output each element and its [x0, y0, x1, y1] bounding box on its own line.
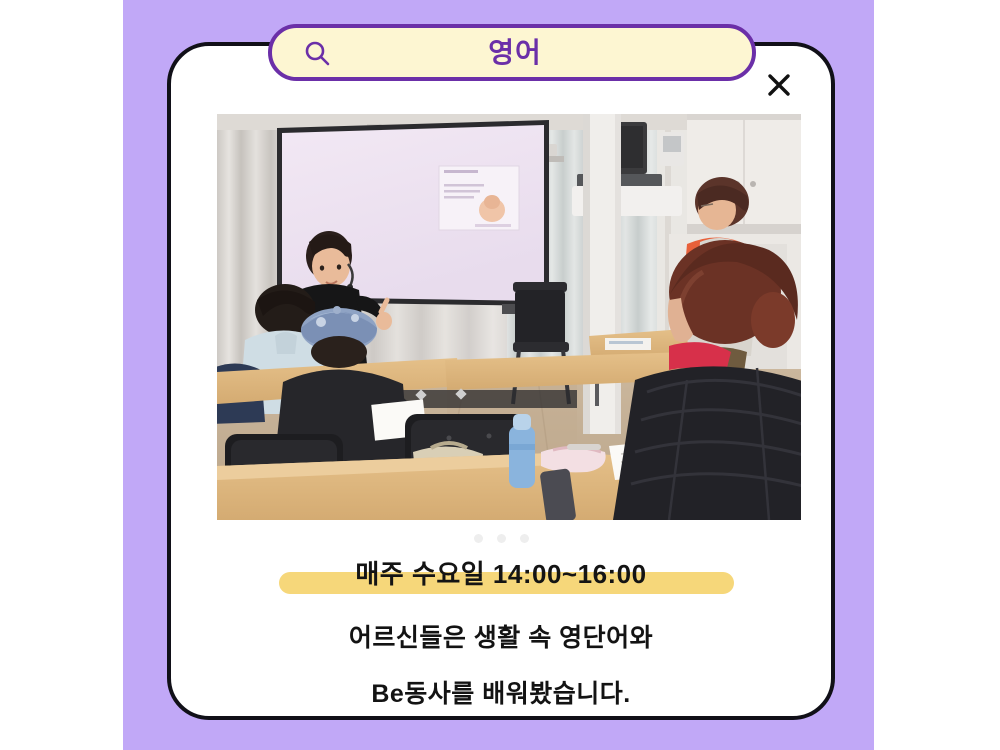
description-line-2: Be동사를 배워봤습니다.	[171, 674, 831, 710]
carousel-dots[interactable]	[171, 534, 831, 543]
screenshot-root: 매주 수요일 14:00~16:00 어르신들은 생활 속 영단어와 Be동사를…	[0, 0, 1000, 750]
description-line-1: 어르신들은 생활 속 영단어와	[171, 618, 831, 654]
schedule-text: 매주 수요일 14:00~16:00	[171, 554, 831, 594]
schedule-row: 매주 수요일 14:00~16:00	[171, 554, 831, 598]
page-title: 영어	[272, 39, 752, 67]
content-card: 매주 수요일 14:00~16:00 어르신들은 생활 속 영단어와 Be동사를…	[167, 42, 835, 720]
close-button[interactable]	[762, 68, 796, 102]
class-photo[interactable]	[217, 114, 801, 520]
carousel-dot-2[interactable]	[497, 534, 506, 543]
carousel-dot-3[interactable]	[520, 534, 529, 543]
search-title-bar[interactable]: 영어	[268, 24, 756, 81]
carousel-dot-1[interactable]	[474, 534, 483, 543]
class-photo-image	[217, 114, 801, 520]
search-icon[interactable]	[302, 38, 332, 68]
close-icon	[766, 72, 792, 98]
